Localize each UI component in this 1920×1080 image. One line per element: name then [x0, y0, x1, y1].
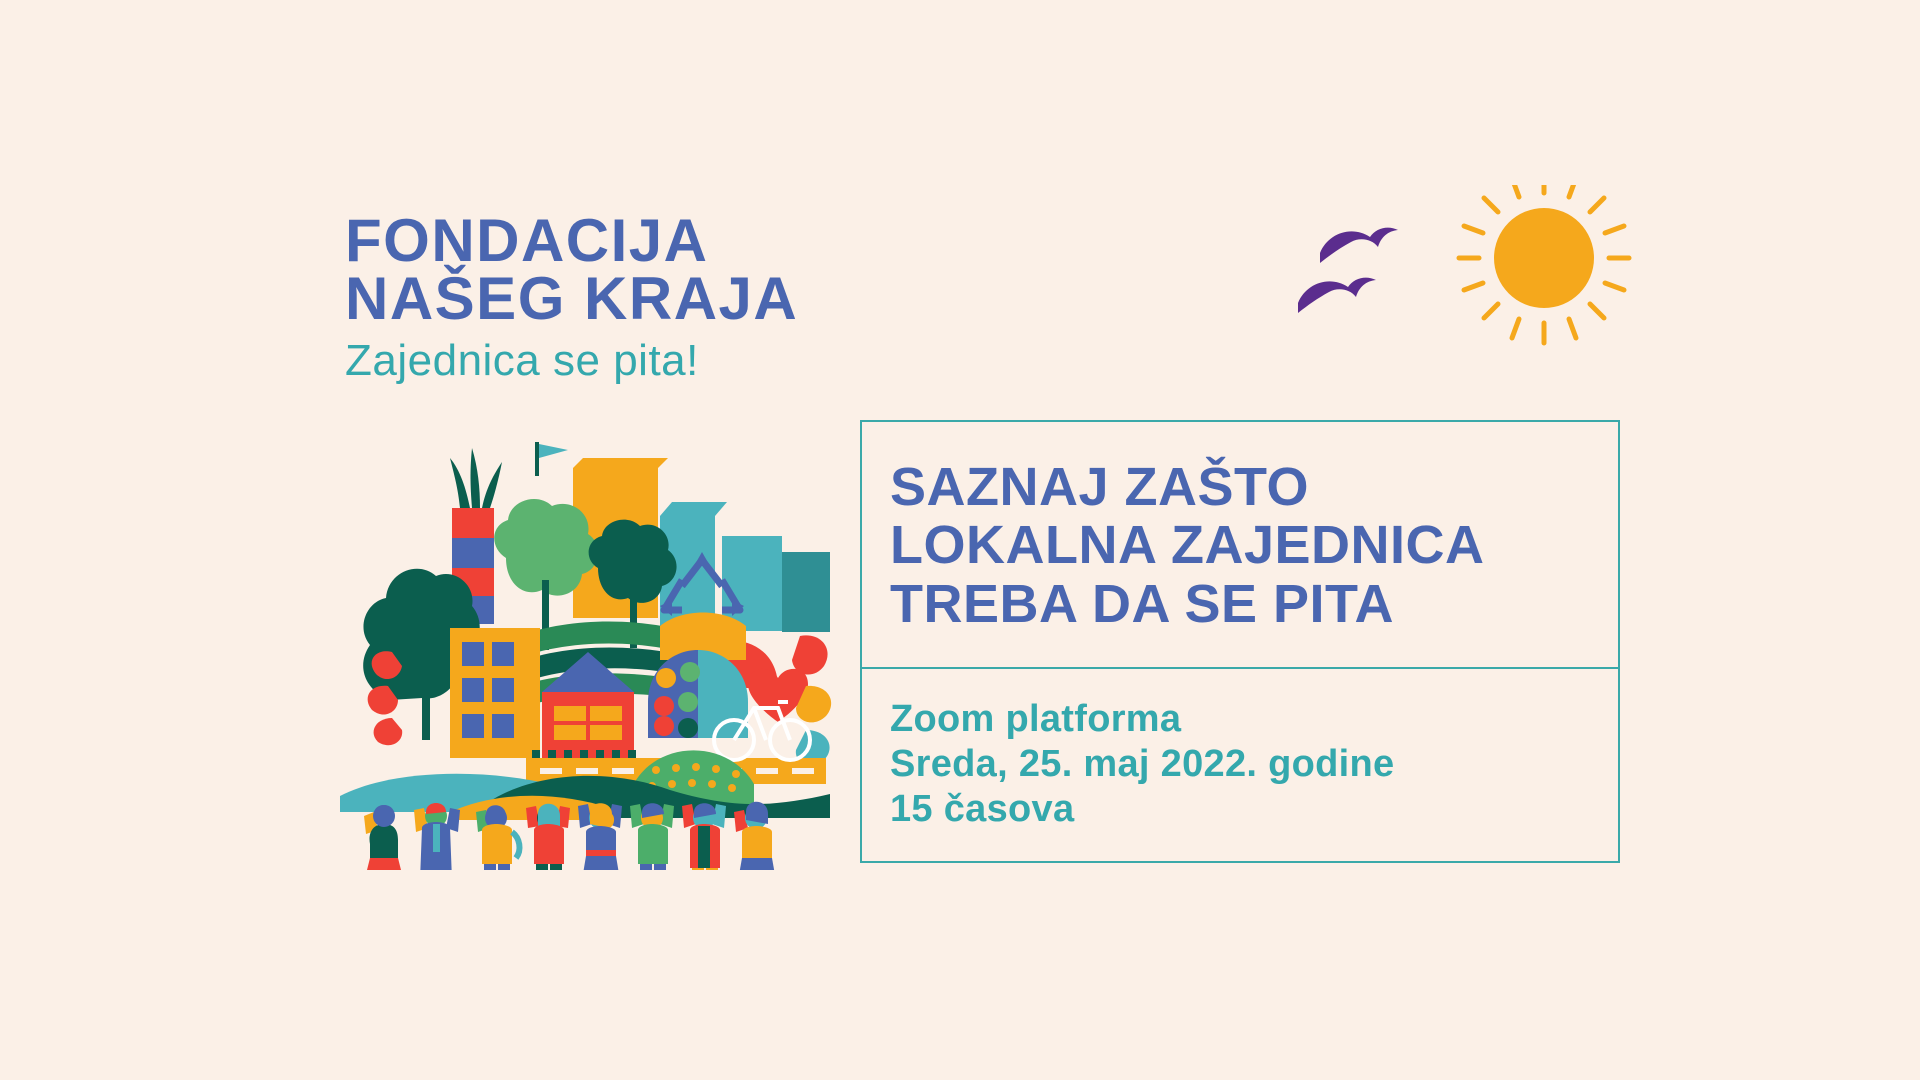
- person-icon: [578, 803, 622, 870]
- person-icon: [526, 804, 570, 870]
- sun-icon: [1459, 185, 1629, 343]
- headline-section: SAZNAJ ZAŠTO LOKALNA ZAJEDNICA TREBA DA …: [862, 422, 1618, 669]
- skyscraper-icon: [722, 536, 782, 631]
- event-date: Sreda, 25. maj 2022. godine: [890, 742, 1590, 787]
- poster-canvas: FONDACIJA NAŠEG KRAJA Zajednica se pita!: [0, 0, 1920, 1080]
- person-icon: [630, 803, 674, 870]
- logo-name-line-1: FONDACIJA: [345, 212, 865, 270]
- person-icon: [682, 803, 726, 870]
- headline-line-2: LOKALNA ZAJEDNICA: [890, 516, 1590, 574]
- community-city-illustration: [330, 440, 840, 870]
- sky-decoration: [1280, 185, 1700, 385]
- organization-logo: FONDACIJA NAŠEG KRAJA Zajednica se pita!: [345, 212, 865, 385]
- sky-decoration-svg: [1280, 185, 1700, 385]
- logo-tagline: Zajednica se pita!: [345, 338, 865, 384]
- headline-line-1: SAZNAJ ZAŠTO: [890, 458, 1590, 516]
- apartment-building-icon: [450, 628, 540, 758]
- event-platform: Zoom platforma: [890, 697, 1590, 742]
- bird-icon: [1298, 278, 1376, 313]
- skyscraper-icon: [782, 552, 830, 632]
- flag-icon: [535, 442, 568, 476]
- community-illustration-svg: [330, 440, 840, 870]
- person-icon: [362, 805, 406, 870]
- event-details-section: Zoom platforma Sreda, 25. maj 2022. godi…: [862, 669, 1618, 861]
- bird-icon: [1320, 228, 1398, 263]
- headline-line-3: TREBA DA SE PITA: [890, 575, 1590, 633]
- event-info-box: SAZNAJ ZAŠTO LOKALNA ZAJEDNICA TREBA DA …: [860, 420, 1620, 863]
- event-time: 15 časova: [890, 787, 1590, 832]
- logo-name-line-2: NAŠEG KRAJA: [345, 270, 865, 328]
- person-icon: [414, 803, 460, 870]
